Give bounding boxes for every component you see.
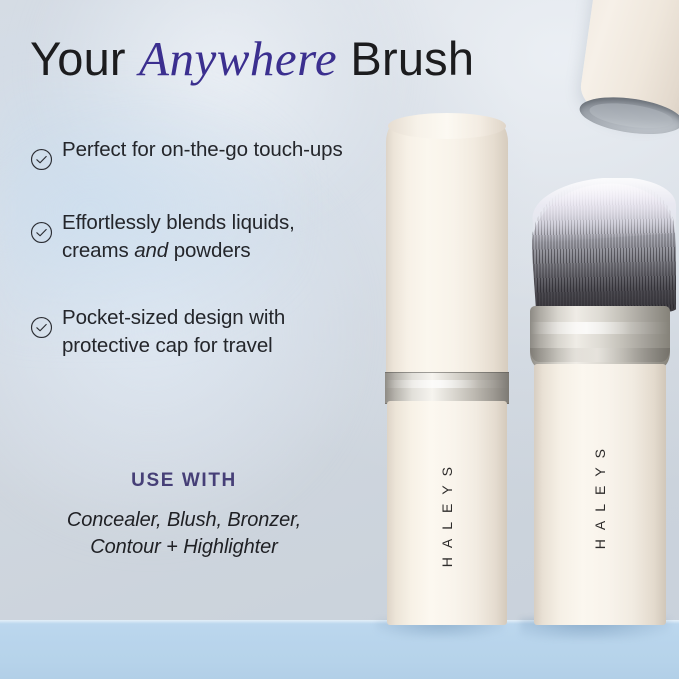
list-item: Pocket-sized design with protective cap … xyxy=(30,304,360,361)
list-item: Effortlessly blends liquids, creams and … xyxy=(30,209,360,266)
use-with-section: USE WITH Concealer, Blush, Bronzer, Cont… xyxy=(0,470,368,561)
use-with-line-1: Concealer, Blush, Bronzer, xyxy=(0,507,368,534)
brand-logo-vertical-2: HALEYS xyxy=(534,364,666,625)
feature-text-emphasis: and xyxy=(134,239,168,262)
metal-band-highlight xyxy=(385,380,509,388)
check-circle-icon xyxy=(30,221,53,244)
lamp-cone-object xyxy=(577,0,679,130)
brush-bristles xyxy=(532,178,676,314)
product-cap-top xyxy=(388,113,506,139)
product-metal-band xyxy=(385,372,509,404)
use-with-items: Concealer, Blush, Bronzer, Contour + Hig… xyxy=(0,507,368,561)
ferrule-highlight xyxy=(530,322,670,334)
ferrule-lower-ring xyxy=(530,348,670,362)
check-circle-icon xyxy=(30,316,53,339)
product-tube-capped: HALEYS xyxy=(386,120,508,625)
feature-text: Perfect for on-the-go touch-ups xyxy=(62,136,343,164)
product-tube-body: HALEYS xyxy=(387,401,507,625)
product-cap xyxy=(386,120,508,378)
check-circle-icon xyxy=(30,148,53,171)
list-item: Perfect for on-the-go touch-ups xyxy=(30,136,360,171)
feature-list: Perfect for on-the-go touch-ups Effortle… xyxy=(30,136,360,398)
use-with-heading: USE WITH xyxy=(0,470,368,492)
page-title: Your Anywhere Brush xyxy=(30,30,474,87)
headline-suffix: Brush xyxy=(337,32,474,85)
use-with-line-2: Contour + Highlighter xyxy=(0,534,368,561)
headline-accent-word: Anywhere xyxy=(139,31,337,86)
feature-text: Effortlessly blends liquids, creams and … xyxy=(62,209,360,266)
brush-ferrule xyxy=(530,306,670,368)
brand-logo-text-2: HALEYS xyxy=(592,440,608,549)
feature-text-tail: powders xyxy=(168,239,250,262)
product-brush-open: HALEYS xyxy=(528,178,670,625)
brush-handle: HALEYS xyxy=(534,364,666,625)
brand-logo-text: HALEYS xyxy=(439,458,455,567)
brand-logo-vertical: HALEYS xyxy=(387,401,507,625)
product-marketing-image: HALEYS HALEYS Your Anywhere Brush xyxy=(0,0,679,679)
feature-text: Pocket-sized design with protective cap … xyxy=(62,304,360,361)
headline-prefix: Your xyxy=(30,32,139,85)
bristle-tips xyxy=(532,178,676,243)
